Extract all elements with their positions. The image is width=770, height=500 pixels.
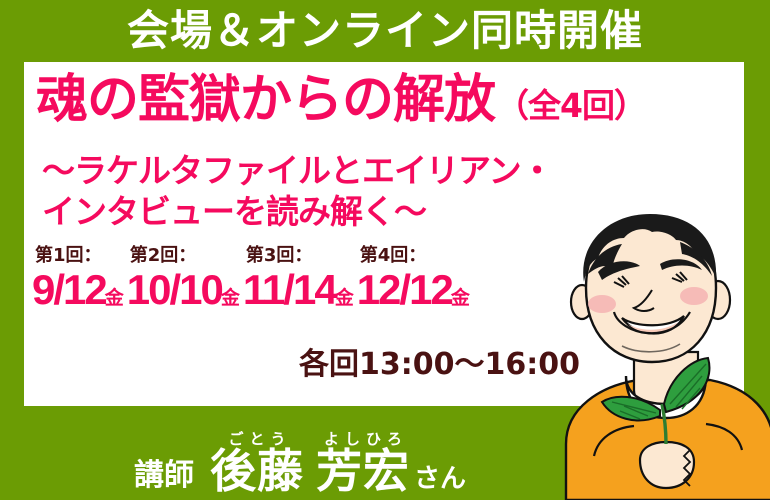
banner: 会場＆オンライン同時開催 [0, 2, 770, 60]
speaker-surname: 後藤 [210, 448, 304, 494]
speaker-footer: 講師 ごとう 後藤 よしひろ 芳宏 さん [0, 408, 600, 500]
session-day-2: 金 [221, 289, 240, 308]
banner-text: 会場＆オンライン同時開催 [127, 10, 643, 52]
session-label-3: 第3回： [246, 247, 354, 265]
speaker-givenname: 芳宏 [316, 448, 410, 494]
speaker-role-label: 講師 [134, 461, 194, 491]
subtitle-line-2: インタビューを読み解く〜 [42, 191, 642, 232]
time-row: 各回13:00〜16:00 [24, 350, 580, 380]
hands [640, 442, 694, 488]
session-label-2: 第2回： [130, 247, 240, 265]
event-poster: 会場＆オンライン同時開催 魂の監獄からの解放 （全4回） 〜ラケルタファイルとエ… [0, 0, 770, 500]
session-date-3: 11/14 [243, 269, 336, 311]
session-day-4: 金 [451, 289, 470, 308]
fingers [684, 450, 690, 486]
session-label-4: 第4回： [360, 247, 470, 265]
session-date-2: 10/10 [127, 269, 222, 311]
content-panel: 魂の監獄からの解放 （全4回） 〜ラケルタファイルとエイリアン・ インタビューを… [24, 62, 744, 406]
speaker-surname-group: ごとう 後藤 [210, 432, 304, 494]
session-list: 第1回： 9/12金 第2回： 10/10金 第3回： 11/14金 第4回： … [32, 247, 612, 311]
sprout-stem [662, 404, 666, 444]
session-date-4: 12/12 [357, 269, 452, 311]
session-item-4: 第4回： 12/12金 [357, 247, 473, 311]
subtitle-line-1: 〜ラケルタファイルとエイリアン・ [42, 150, 642, 191]
session-item-3: 第3回： 11/14金 [243, 247, 357, 311]
title-row: 魂の監獄からの解放 （全4回） [36, 74, 742, 126]
arm-left [594, 426, 634, 456]
arm-right [706, 424, 742, 450]
main-title: 魂の監獄からの解放 [36, 74, 495, 126]
speaker-name-suffix: さん [414, 466, 466, 492]
speaker-givenname-group: よしひろ 芳宏 [316, 432, 410, 494]
subtitle: 〜ラケルタファイルとエイリアン・ インタビューを読み解く〜 [42, 150, 642, 233]
session-item-2: 第2回： 10/10金 [127, 247, 243, 311]
session-date-1: 9/12 [32, 269, 106, 311]
title-suffix: （全4回） [496, 89, 646, 122]
session-label-1: 第1回： [35, 247, 124, 265]
session-day-3: 金 [335, 289, 354, 308]
session-time: 各回13:00〜16:00 [299, 347, 580, 382]
speaker-inner: 講師 ごとう 後藤 よしひろ 芳宏 さん [134, 432, 466, 494]
session-day-1: 金 [105, 289, 124, 308]
session-item-1: 第1回： 9/12金 [32, 247, 127, 311]
